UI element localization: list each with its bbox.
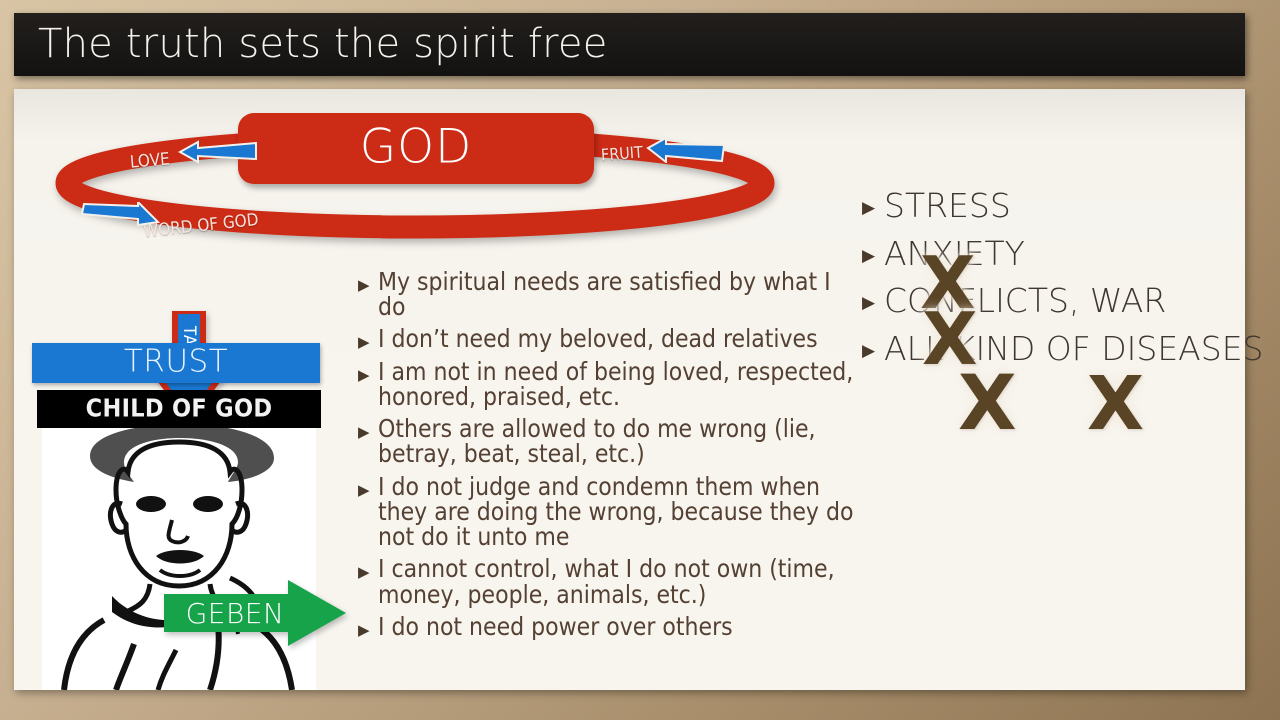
slide: The truth sets the spirit free GOD LOVE … bbox=[0, 0, 1280, 720]
god-cycle-diagram: GOD LOVE WORD OF GOD FRUIT bbox=[32, 109, 802, 259]
geben-label: GEBEN bbox=[170, 578, 300, 648]
list-item-label: STRESS bbox=[884, 189, 1232, 223]
child-of-god-label: CHILD OF GOD bbox=[37, 393, 321, 422]
list-item-label: Others are allowed to do me wrong (lie, … bbox=[378, 416, 858, 466]
bullet-triangle-icon: ▶ bbox=[862, 199, 882, 216]
list-item-label: I do not need power over others bbox=[378, 614, 858, 639]
list-item: ▶ I do not judge and condemn them when t… bbox=[358, 474, 858, 550]
list-item-label: ANXIETY bbox=[884, 237, 1232, 271]
fruit-arrow-icon bbox=[646, 137, 726, 163]
bullet-triangle-icon: ▶ bbox=[358, 335, 374, 350]
list-item-label: My spiritual needs are satisfied by what… bbox=[378, 269, 858, 319]
list-item: ▶ I cannot control, what I do not own (t… bbox=[358, 556, 858, 606]
list-item: ▶ STRESS bbox=[862, 189, 1232, 223]
ring-label-fruit: FRUIT bbox=[600, 143, 643, 165]
list-item: ▶ My spiritual needs are satisfied by wh… bbox=[358, 269, 858, 319]
spiritual-statements-list: ▶ My spiritual needs are satisfied by wh… bbox=[358, 269, 858, 646]
list-item: ▶ I am not in need of being loved, respe… bbox=[358, 359, 858, 409]
ring-label-love: LOVE bbox=[129, 149, 170, 172]
bullet-triangle-icon: ▶ bbox=[358, 565, 374, 580]
bullet-triangle-icon: ▶ bbox=[862, 342, 882, 359]
slide-content-panel: GOD LOVE WORD OF GOD FRUIT bbox=[14, 89, 1245, 690]
list-item: ▶ I do not need power over others bbox=[358, 614, 858, 639]
trust-banner: TRUST bbox=[32, 343, 320, 383]
geben-arrow: GEBEN bbox=[162, 578, 348, 648]
child-illustration bbox=[42, 428, 316, 690]
love-arrow-icon bbox=[178, 139, 258, 165]
god-center-box: GOD bbox=[238, 113, 594, 184]
bullet-triangle-icon: ▶ bbox=[358, 278, 374, 293]
bullet-triangle-icon: ▶ bbox=[358, 425, 374, 440]
list-item-label: CONFLICTS, WAR bbox=[884, 284, 1232, 318]
page-title: The truth sets the spirit free bbox=[38, 21, 608, 67]
bullet-triangle-icon: ▶ bbox=[358, 483, 374, 498]
list-item-label: ALL KIND OF DISEASES bbox=[884, 332, 1264, 366]
list-item-label: I cannot control, what I do not own (tim… bbox=[378, 556, 858, 606]
bullet-triangle-icon: ▶ bbox=[358, 623, 374, 638]
child-of-god-banner: CHILD OF GOD bbox=[37, 390, 321, 428]
trust-label: TRUST bbox=[32, 344, 320, 380]
list-item: ▶ I don’t need my beloved, dead relative… bbox=[358, 326, 858, 351]
slide-title-bar: The truth sets the spirit free bbox=[14, 13, 1245, 76]
list-item: ▶ ALL KIND OF DISEASES bbox=[862, 332, 1232, 366]
crossed-out-list: ▶ STRESS ▶ ANXIETY ▶ CONFLICTS, WAR ▶ AL… bbox=[862, 189, 1232, 380]
list-item-label: I don’t need my beloved, dead relatives bbox=[378, 326, 858, 351]
bullet-triangle-icon: ▶ bbox=[358, 368, 374, 383]
god-label: GOD bbox=[238, 119, 594, 174]
list-item-label: I do not judge and condemn them when the… bbox=[378, 474, 858, 550]
bullet-triangle-icon: ▶ bbox=[862, 294, 882, 311]
word-of-god-arrow-icon bbox=[80, 202, 160, 228]
bullet-triangle-icon: ▶ bbox=[862, 247, 882, 264]
list-item: ▶ CONFLICTS, WAR bbox=[862, 284, 1232, 318]
list-item: ▶ ANXIETY bbox=[862, 237, 1232, 271]
list-item: ▶ Others are allowed to do me wrong (lie… bbox=[358, 416, 858, 466]
list-item-label: I am not in need of being loved, respect… bbox=[378, 359, 858, 409]
